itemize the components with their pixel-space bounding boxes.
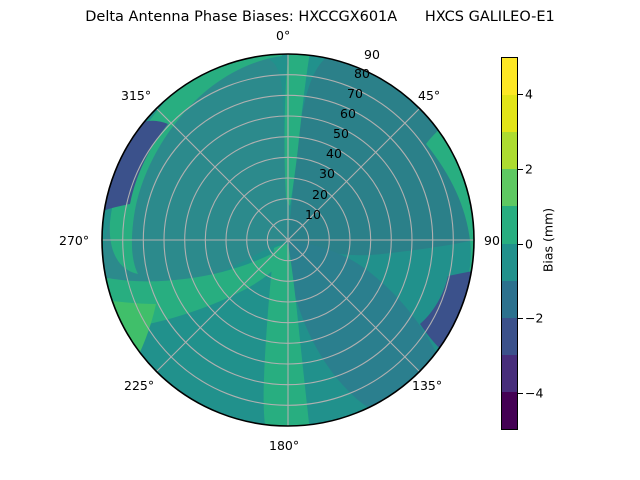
- colorbar-band-9: [502, 58, 517, 95]
- radial-tick-10: 10: [305, 207, 321, 222]
- colorbar-gradient: [501, 57, 518, 430]
- colorbar-tick-label-n4: −4: [525, 385, 543, 400]
- angular-tick-315: 315°: [121, 88, 151, 103]
- colorbar-band-0: [502, 392, 517, 429]
- colorbar-band-6: [502, 169, 517, 206]
- colorbar-tick-mark-2: [518, 169, 523, 170]
- radial-tick-70: 70: [347, 86, 363, 101]
- angular-tick-180: 180°: [269, 438, 299, 453]
- polar-gridlines: [102, 54, 474, 426]
- radial-tick-60: 60: [340, 106, 356, 121]
- colorbar: 4 2 0 −2 −4: [501, 57, 518, 430]
- colorbar-tick-label-n2: −2: [525, 311, 543, 326]
- colorbar-band-7: [502, 132, 517, 169]
- radial-tick-50: 50: [333, 126, 349, 141]
- radial-tick-90: 90: [364, 47, 380, 62]
- polar-axes: 0° 45° 90° 135° 180° 225° 270° 315° 10 2…: [96, 48, 480, 432]
- colorbar-band-1: [502, 355, 517, 392]
- polar-plot-svg: [96, 48, 480, 432]
- colorbar-band-8: [502, 95, 517, 132]
- colorbar-tick-mark-4: [518, 94, 523, 95]
- radial-tick-30: 30: [319, 166, 335, 181]
- colorbar-tick-mark-n4: [518, 393, 523, 394]
- colorbar-band-3: [502, 281, 517, 318]
- radial-tick-80: 80: [354, 66, 370, 81]
- angular-tick-270: 270°: [59, 233, 89, 248]
- colorbar-tick-label-2: 2: [525, 161, 533, 176]
- colorbar-tick-label-0: 0: [525, 236, 533, 251]
- figure-canvas: Delta Antenna Phase Biases: HXCCGX601A H…: [0, 0, 640, 480]
- colorbar-tick-mark-0: [518, 244, 523, 245]
- colorbar-tick-label-4: 4: [525, 87, 533, 102]
- angular-tick-135: 135°: [412, 378, 442, 393]
- radial-tick-40: 40: [326, 146, 342, 161]
- colorbar-band-4: [502, 244, 517, 281]
- colorbar-axis-label: Bias (mm): [541, 208, 556, 272]
- radial-tick-20: 20: [312, 187, 328, 202]
- angular-tick-225: 225°: [124, 378, 154, 393]
- colorbar-band-5: [502, 206, 517, 243]
- angular-tick-45: 45°: [418, 88, 440, 103]
- colorbar-tick-mark-n2: [518, 318, 523, 319]
- page-title: Delta Antenna Phase Biases: HXCCGX601A H…: [0, 9, 640, 25]
- colorbar-band-2: [502, 318, 517, 355]
